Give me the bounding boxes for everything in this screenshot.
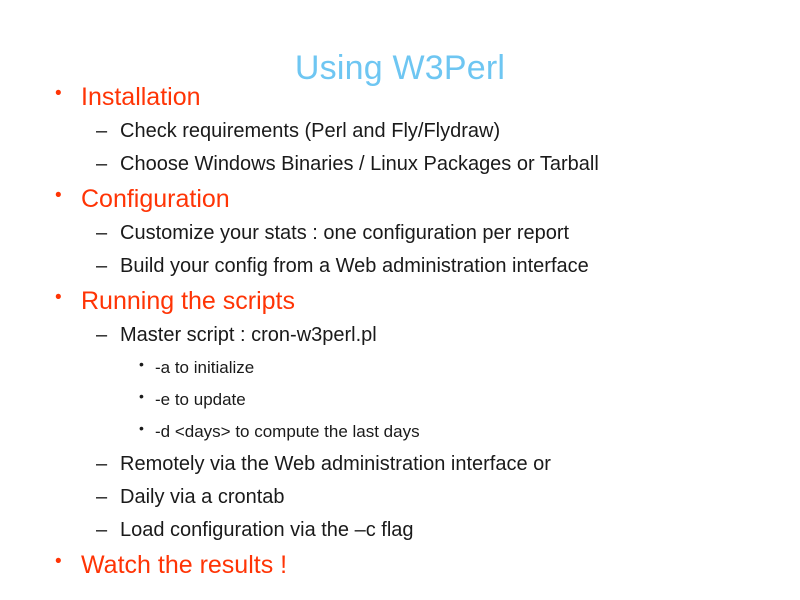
- bullet-marker-icon: –: [96, 250, 120, 283]
- bullet-marker-icon: –: [96, 319, 120, 352]
- outline-item-level1: •Watch the results !: [0, 547, 800, 583]
- outline-item-label: -e to update: [155, 384, 246, 416]
- bullet-marker-icon: –: [96, 217, 120, 250]
- bullet-marker-icon: •: [55, 284, 81, 311]
- outline-item-label: Customize your stats : one configuration…: [120, 217, 569, 250]
- outline-item-label: Running the scripts: [81, 283, 295, 319]
- bullet-marker-icon: –: [96, 115, 120, 148]
- outline-item-label: Build your config from a Web administrat…: [120, 250, 589, 283]
- bullet-marker-icon: –: [96, 148, 120, 181]
- outline-item-level2: –Master script : cron-w3perl.pl: [0, 319, 800, 352]
- outline-item-label: -d <days> to compute the last days: [155, 416, 420, 448]
- bullet-marker-icon: –: [96, 448, 120, 481]
- outline-item-level3: •-a to initialize: [0, 352, 800, 384]
- outline-item-level3: •-d <days> to compute the last days: [0, 416, 800, 448]
- outline-item-level1: •Running the scripts: [0, 283, 800, 319]
- outline-item-label: Configuration: [81, 181, 230, 217]
- outline-item-level1: •Configuration: [0, 181, 800, 217]
- outline-item-level2: –Load configuration via the –c flag: [0, 514, 800, 547]
- outline-item-label: Daily via a crontab: [120, 481, 285, 514]
- outline-item-label: Load configuration via the –c flag: [120, 514, 414, 547]
- outline-item-level2: –Daily via a crontab: [0, 481, 800, 514]
- outline-item-level2: –Choose Windows Binaries / Linux Package…: [0, 148, 800, 181]
- bullet-marker-icon: –: [96, 514, 120, 547]
- outline-item-label: Check requirements (Perl and Fly/Flydraw…: [120, 115, 500, 148]
- outline-item-level2: –Build your config from a Web administra…: [0, 250, 800, 283]
- bullet-marker-icon: •: [139, 383, 155, 409]
- bullet-marker-icon: •: [139, 351, 155, 377]
- bullet-marker-icon: •: [55, 182, 81, 209]
- outline-item-label: -a to initialize: [155, 352, 254, 384]
- outline-item-level3: •-e to update: [0, 384, 800, 416]
- outline-item-label: Watch the results !: [81, 547, 287, 583]
- slide-outline: •Installation–Check requirements (Perl a…: [0, 79, 800, 583]
- outline-item-label: Remotely via the Web administration inte…: [120, 448, 551, 481]
- bullet-marker-icon: •: [55, 548, 81, 575]
- outline-item-level2: –Customize your stats : one configuratio…: [0, 217, 800, 250]
- outline-item-level1: •Installation: [0, 79, 800, 115]
- outline-item-label: Installation: [81, 79, 201, 115]
- outline-item-label: Master script : cron-w3perl.pl: [120, 319, 377, 352]
- bullet-marker-icon: •: [139, 415, 155, 441]
- bullet-marker-icon: –: [96, 481, 120, 514]
- outline-item-label: Choose Windows Binaries / Linux Packages…: [120, 148, 599, 181]
- slide: Using W3Perl •Installation–Check require…: [0, 0, 800, 600]
- bullet-marker-icon: •: [55, 80, 81, 107]
- outline-item-level2: –Check requirements (Perl and Fly/Flydra…: [0, 115, 800, 148]
- outline-item-level2: –Remotely via the Web administration int…: [0, 448, 800, 481]
